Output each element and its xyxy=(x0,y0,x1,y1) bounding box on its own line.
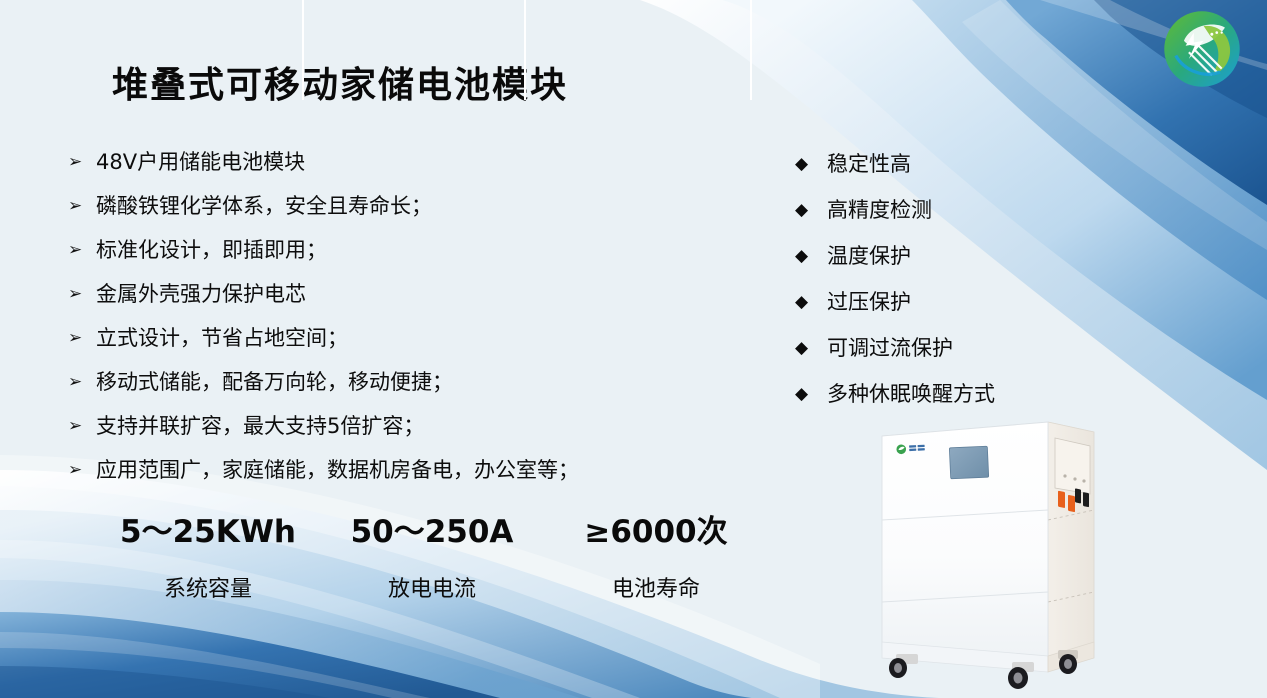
feature-text: 稳定性高 xyxy=(827,152,911,177)
arrow-bullet-icon: ➢ xyxy=(68,458,96,483)
list-item: ◆ 温度保护 xyxy=(795,244,1095,269)
list-item: ➢ 48V户用储能电池模块 xyxy=(68,150,708,175)
feature-text: 金属外壳强力保护电芯 xyxy=(96,282,306,307)
feature-text: 支持并联扩容，最大支持5倍扩容； xyxy=(96,414,424,439)
feature-text: 移动式储能，配备万向轮，移动便捷； xyxy=(96,370,453,395)
slide-root: 堆叠式可移动家储电池模块 ➢ 48V户用储能电池模块 ➢ 磷酸铁锂化学体系，安全… xyxy=(0,0,1267,698)
feature-text: 应用范围广，家庭储能，数据机房备电，办公室等； xyxy=(96,458,579,483)
list-item: ◆ 高精度检测 xyxy=(795,198,1095,223)
feature-text: 可调过流保护 xyxy=(827,336,953,361)
stat-divider xyxy=(302,0,304,100)
page-title: 堆叠式可移动家储电池模块 xyxy=(112,56,568,108)
diamond-bullet-icon: ◆ xyxy=(795,198,827,223)
list-item: ◆ 稳定性高 xyxy=(795,152,1095,177)
stat-value: 5～25KWh xyxy=(120,512,296,552)
terminal-negative xyxy=(1075,488,1081,503)
stat-value: 50～250A xyxy=(351,512,514,552)
cabinet-side-face xyxy=(1048,422,1094,664)
arrow-bullet-icon: ➢ xyxy=(68,238,96,263)
feature-text: 标准化设计，即插即用； xyxy=(96,238,327,263)
feature-text: 高精度检测 xyxy=(827,198,932,223)
stat-label: 系统容量 xyxy=(164,576,252,604)
arrow-bullet-icon: ➢ xyxy=(68,282,96,307)
stat-label: 电池寿命 xyxy=(612,576,700,604)
list-item: ➢ 支持并联扩容，最大支持5倍扩容； xyxy=(68,414,708,439)
arrow-bullet-icon: ➢ xyxy=(68,194,96,219)
feature-text: 48V户用储能电池模块 xyxy=(96,150,305,175)
arrow-bullet-icon: ➢ xyxy=(68,414,96,439)
list-item: ➢ 磷酸铁锂化学体系，安全且寿命长； xyxy=(68,194,708,219)
diamond-bullet-icon: ◆ xyxy=(795,244,827,269)
list-item: ◆ 可调过流保护 xyxy=(795,336,1095,361)
feature-text: 过压保护 xyxy=(827,290,911,315)
list-item: ◆ 过压保护 xyxy=(795,290,1095,315)
terminal-positive xyxy=(1058,491,1065,508)
spec-highlights: 5～25KWh 系统容量 50～250A 放电电流 ≥6000次 电池寿命 xyxy=(96,512,768,616)
feature-text: 磷酸铁锂化学体系，安全且寿命长； xyxy=(96,194,432,219)
arrow-bullet-icon: ➢ xyxy=(68,150,96,175)
feature-text: 立式设计，节省占地空间； xyxy=(96,326,348,351)
stat-discharge-current: 50～250A 放电电流 xyxy=(320,512,544,616)
company-logo-icon xyxy=(1161,8,1243,90)
list-item: ➢ 移动式储能，配备万向轮，移动便捷； xyxy=(68,370,708,395)
stat-divider xyxy=(524,0,526,100)
feature-list-left: ➢ 48V户用储能电池模块 ➢ 磷酸铁锂化学体系，安全且寿命长； ➢ 标准化设计… xyxy=(68,150,708,502)
diamond-bullet-icon: ◆ xyxy=(795,290,827,315)
terminal-positive xyxy=(1068,495,1075,512)
diamond-bullet-icon: ◆ xyxy=(795,336,827,361)
stat-value: ≥6000次 xyxy=(584,512,727,552)
diamond-bullet-icon: ◆ xyxy=(795,152,827,177)
arrow-bullet-icon: ➢ xyxy=(68,370,96,395)
stat-label: 放电电流 xyxy=(388,576,476,604)
caster-wheel xyxy=(1058,650,1078,674)
feature-list-right: ◆ 稳定性高 ◆ 高精度检测 ◆ 温度保护 ◆ 过压保护 ◆ 可调过流保护 ◆ … xyxy=(795,152,1095,428)
stat-cycle-life: ≥6000次 电池寿命 xyxy=(544,512,768,616)
list-item: ➢ 应用范围广，家庭储能，数据机房备电，办公室等； xyxy=(68,458,708,483)
list-item: ➢ 金属外壳强力保护电芯 xyxy=(68,282,708,307)
terminal-negative xyxy=(1083,492,1089,507)
arrow-bullet-icon: ➢ xyxy=(68,326,96,351)
stat-divider xyxy=(750,0,752,100)
stat-capacity: 5～25KWh 系统容量 xyxy=(96,512,320,616)
feature-text: 温度保护 xyxy=(827,244,911,269)
list-item: ➢ 立式设计，节省占地空间； xyxy=(68,326,708,351)
list-item: ➢ 标准化设计，即插即用； xyxy=(68,238,708,263)
product-image-battery-cabinet xyxy=(862,392,1122,692)
cabinet-front-face xyxy=(882,422,1048,664)
display-panel xyxy=(949,446,988,479)
diamond-bullet-icon: ◆ xyxy=(795,382,827,407)
